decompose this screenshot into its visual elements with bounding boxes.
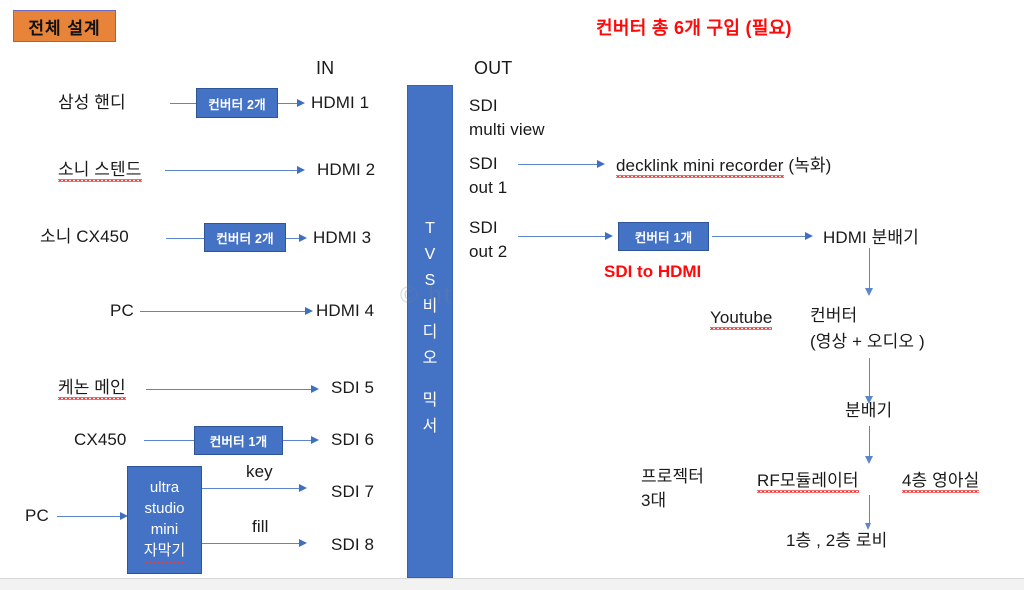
arrow-head-icon	[865, 288, 873, 296]
arrow-head-icon	[305, 307, 313, 315]
youtube-label: Youtube	[710, 307, 772, 328]
output-name-line2: out 1	[469, 177, 507, 198]
connector-line	[166, 238, 204, 239]
converter-box: 컨버터 2개	[204, 223, 286, 252]
ultra-studio-line: mini	[151, 519, 179, 540]
hdmi-splitter-label: HDMI 분배기	[823, 227, 919, 248]
decklink-target-text: decklink mini recorder	[616, 156, 784, 178]
footer-strip	[0, 578, 1024, 590]
arrow-head-icon	[597, 160, 605, 168]
connector-line	[712, 236, 808, 237]
connector-line	[869, 248, 870, 290]
ultra-studio-line: 자막기	[144, 540, 185, 564]
input-source-text: 케논 메인	[58, 378, 126, 400]
mixer-char: T	[425, 216, 435, 242]
output-name-line2: multi view	[469, 119, 545, 140]
arrow-head-icon	[299, 484, 307, 492]
rf-modulator-text: RF모듈레이터	[757, 471, 859, 493]
mixer-char: V	[425, 242, 436, 268]
input-source-label: 소니 CX450	[40, 226, 129, 247]
rf-modulator-label: RF모듈레이터	[757, 470, 859, 491]
arrow-head-icon	[311, 385, 319, 393]
ultra-studio-line: ultra	[150, 477, 179, 498]
input-port-label: SDI 8	[331, 534, 374, 555]
input-port-label: HDMI 4	[316, 300, 374, 321]
connector-line	[869, 358, 870, 398]
converter-av-line2: (영상 + 오디오 )	[810, 331, 925, 352]
connector-line	[57, 516, 124, 517]
input-source-label: 삼성 핸디	[58, 92, 126, 113]
arrow-head-icon	[299, 234, 307, 242]
mixer-char: 서	[423, 414, 438, 440]
input-source-label: 소니 스텐드	[58, 159, 142, 180]
arrow-head-icon	[297, 166, 305, 174]
connector-line	[146, 389, 314, 390]
ultra-output-label-key: key	[246, 461, 273, 482]
ultra-output-label-fill: fill	[252, 516, 268, 537]
projector-line1: 프로젝터	[641, 466, 704, 487]
connector-line	[165, 170, 300, 171]
splitter-label: 분배기	[845, 400, 892, 421]
lobby-label: 1층 , 2층 로비	[786, 530, 887, 551]
connector-line	[202, 543, 302, 544]
slide-title-badge: 전체 설계	[13, 10, 116, 42]
input-port-label: SDI 7	[331, 481, 374, 502]
input-source-label: CX450	[74, 429, 126, 450]
input-port-label: HDMI 2	[317, 159, 375, 180]
arrow-head-icon	[605, 232, 613, 240]
projector-line2: 3대	[641, 490, 666, 511]
arrow-head-icon	[297, 99, 305, 107]
mixer-char: 비	[423, 294, 438, 320]
headline-note: 컨버터 총 6개 구입 (필요)	[596, 14, 792, 40]
youtube-text: Youtube	[710, 308, 772, 330]
connector-line	[144, 440, 194, 441]
room-4f-label: 4층 영아실	[902, 470, 979, 491]
mixer-char: 디	[423, 320, 438, 346]
slide-canvas: 전체 설계 컨버터 총 6개 구입 (필요) IN OUT T V S 비 디 …	[0, 0, 1024, 590]
output-name-line2: out 2	[469, 241, 507, 262]
connector-line	[202, 488, 302, 489]
input-source-label: 케논 메인	[58, 377, 126, 398]
in-column-label: IN	[316, 58, 334, 79]
converter-box: 컨버터 1개	[194, 426, 283, 455]
connector-line	[518, 164, 600, 165]
ultra-studio-mini-box: ultra studio mini 자막기	[127, 466, 202, 574]
arrow-head-icon	[311, 436, 319, 444]
output-name-line1: SDI	[469, 153, 498, 174]
mixer-label-stack: T V S 비 디 오 믹 서	[408, 216, 452, 440]
converter-box: 컨버터 2개	[196, 88, 278, 118]
input-source-label: PC	[110, 300, 134, 321]
input-port-label: SDI 5	[331, 377, 374, 398]
sdi-to-hdmi-converter-box: 컨버터 1개	[618, 222, 709, 251]
connector-line	[518, 236, 607, 237]
decklink-target-label: decklink mini recorder (녹화)	[616, 155, 831, 176]
arrow-head-icon	[865, 456, 873, 464]
converter-av-line1: 컨버터	[810, 305, 857, 326]
arrow-head-icon	[865, 523, 871, 530]
connector-line	[283, 440, 314, 441]
connector-line	[869, 426, 870, 458]
arrow-head-icon	[805, 232, 813, 240]
ultra-studio-line: studio	[144, 498, 184, 519]
input-port-label: HDMI 1	[311, 92, 369, 113]
connector-line	[170, 103, 196, 104]
arrow-head-icon	[299, 539, 307, 547]
output-name-line1: SDI	[469, 95, 498, 116]
decklink-target-suffix: (녹화)	[784, 156, 832, 175]
mixer-char: 오	[423, 346, 438, 372]
input-port-label: SDI 6	[331, 429, 374, 450]
room-4f-text: 4층 영아실	[902, 471, 979, 493]
ultra-studio-input-source: PC	[25, 505, 49, 526]
input-source-text: 소니 스텐드	[58, 160, 142, 182]
sdi-to-hdmi-note: SDI to HDMI	[604, 262, 701, 282]
mixer-char: S	[425, 268, 436, 294]
connector-line	[140, 311, 308, 312]
out-column-label: OUT	[474, 58, 512, 79]
input-port-label: HDMI 3	[313, 227, 371, 248]
output-name-line1: SDI	[469, 217, 498, 238]
mixer-char: 믹	[423, 388, 438, 414]
tvs-video-mixer-column: T V S 비 디 오 믹 서	[407, 85, 453, 578]
connector-line	[869, 495, 870, 526]
